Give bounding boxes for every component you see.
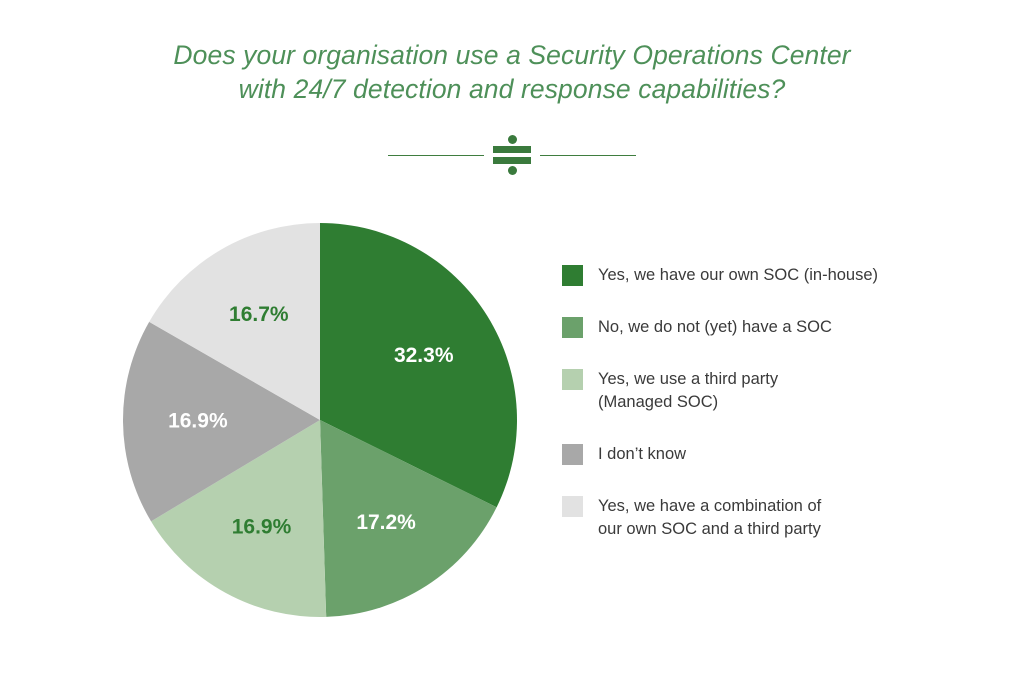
legend-swatch-dont-know: [562, 444, 583, 465]
title-divider: [0, 133, 1024, 177]
legend-item-dont-know[interactable]: I don’t know: [562, 443, 962, 466]
title-line-2: with 24/7 detection and response capabil…: [0, 72, 1024, 106]
legend-swatch-own-soc: [562, 265, 583, 286]
pie-chart: 32.3%17.2%16.9%16.9%16.7%: [122, 222, 518, 618]
legend-label-own-soc: Yes, we have our own SOC (in-house): [598, 264, 878, 287]
ornament-bar-bottom: [493, 157, 531, 164]
ornament-bar-top: [493, 146, 531, 153]
pie-slice-value-label: 16.7%: [229, 303, 289, 326]
legend-label-combination: Yes, we have a combination of our own SO…: [598, 495, 821, 541]
divider-rule-right: [540, 155, 636, 156]
legend-item-own-soc[interactable]: Yes, we have our own SOC (in-house): [562, 264, 962, 287]
division-ornament-icon: [484, 133, 540, 177]
legend-item-combination[interactable]: Yes, we have a combination of our own SO…: [562, 495, 962, 541]
ornament-dot-top: [508, 135, 517, 144]
legend-label-dont-know: I don’t know: [598, 443, 686, 466]
legend-item-no-soc[interactable]: No, we do not (yet) have a SOC: [562, 316, 962, 339]
title-line-1: Does your organisation use a Security Op…: [0, 38, 1024, 72]
pie-slice-value-label: 17.2%: [356, 511, 416, 534]
ornament-dot-bottom: [508, 166, 517, 175]
legend-swatch-combination: [562, 496, 583, 517]
chart-legend: Yes, we have our own SOC (in-house) No, …: [562, 264, 962, 541]
divider-rule-left: [388, 155, 484, 156]
legend-label-third-party: Yes, we use a third party (Managed SOC): [598, 368, 778, 414]
legend-swatch-third-party: [562, 369, 583, 390]
legend-label-no-soc: No, we do not (yet) have a SOC: [598, 316, 832, 339]
pie-slice-value-label: 16.9%: [232, 516, 292, 539]
pie-chart-svg: 32.3%17.2%16.9%16.9%16.7%: [122, 222, 518, 618]
legend-item-third-party[interactable]: Yes, we use a third party (Managed SOC): [562, 368, 962, 414]
pie-slice-value-label: 16.9%: [168, 410, 228, 433]
page-title: Does your organisation use a Security Op…: [0, 38, 1024, 106]
pie-slice-value-label: 32.3%: [394, 344, 454, 367]
legend-swatch-no-soc: [562, 317, 583, 338]
